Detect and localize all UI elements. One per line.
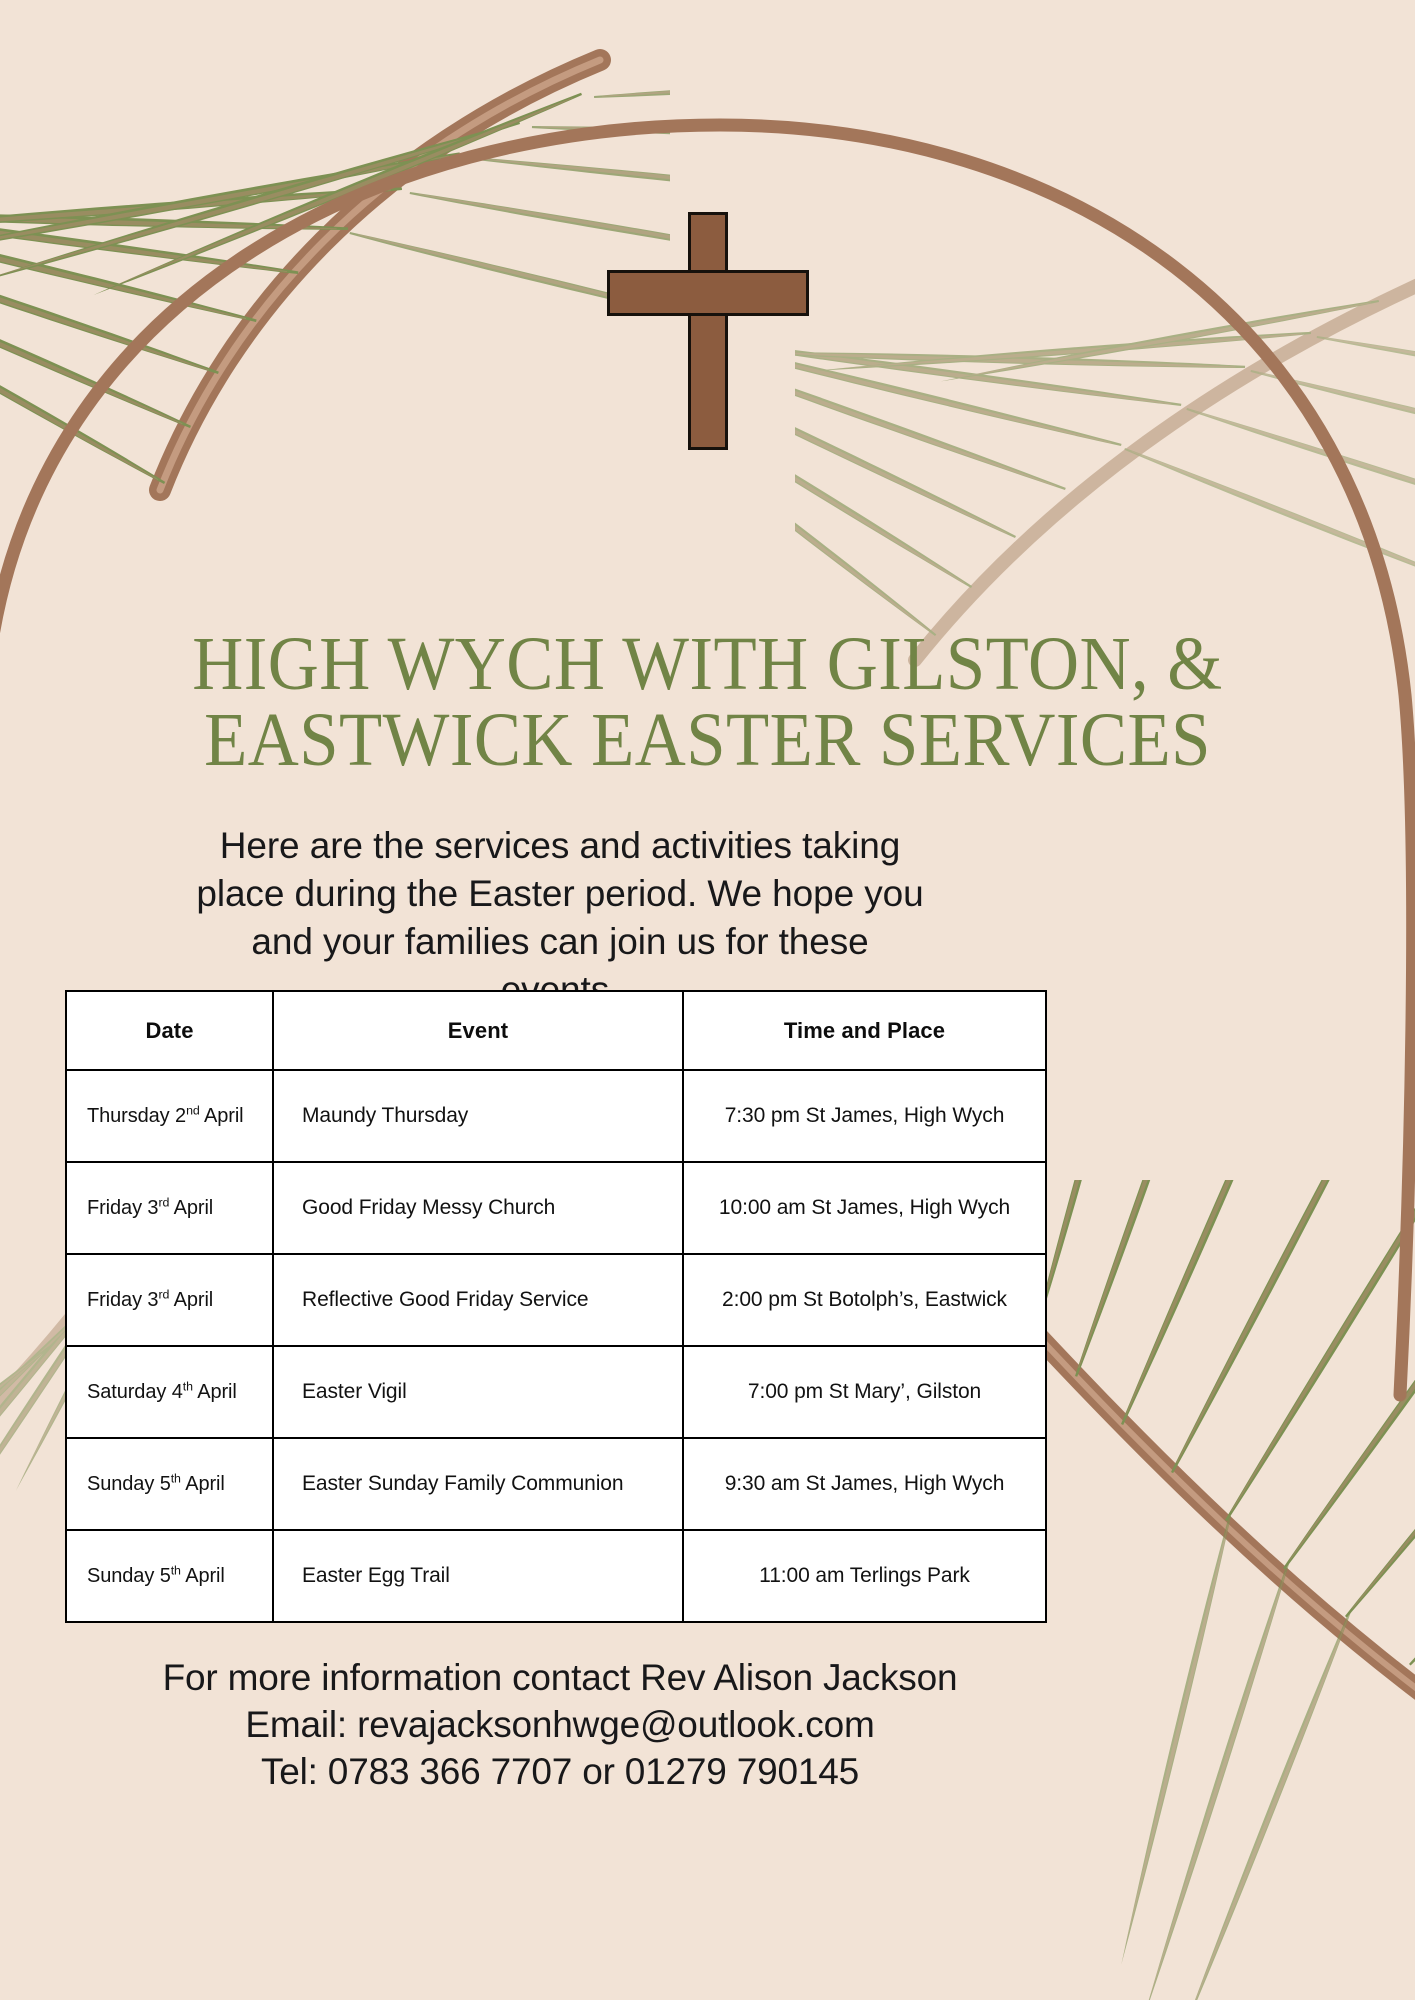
table-row: Thursday 2nd AprilMaundy Thursday7:30 pm… bbox=[66, 1070, 1046, 1162]
cell-date: Sunday 5th April bbox=[66, 1530, 273, 1622]
cell-event: Easter Vigil bbox=[273, 1346, 683, 1438]
cell-event: Easter Egg Trail bbox=[273, 1530, 683, 1622]
date-ordinal-suffix: th bbox=[183, 1379, 193, 1393]
cell-date: Friday 3rd April bbox=[66, 1254, 273, 1346]
table-row: Sunday 5th AprilEaster Sunday Family Com… bbox=[66, 1438, 1046, 1530]
cell-time-and-place: 7:30 pm St James, High Wych bbox=[683, 1070, 1046, 1162]
column-header-time-and-place: Time and Place bbox=[683, 991, 1046, 1070]
cell-event: Reflective Good Friday Service bbox=[273, 1254, 683, 1346]
contact-line-2: Email: revajacksonhwge@outlook.com bbox=[100, 1702, 1020, 1749]
date-ordinal-suffix: rd bbox=[158, 1287, 169, 1301]
date-ordinal-suffix: th bbox=[171, 1471, 181, 1485]
cell-date: Saturday 4th April bbox=[66, 1346, 273, 1438]
column-header-event: Event bbox=[273, 991, 683, 1070]
contact-line-1: For more information contact Rev Alison … bbox=[100, 1655, 1020, 1702]
cell-time-and-place: 7:00 pm St Mary’, Gilston bbox=[683, 1346, 1046, 1438]
table-row: Sunday 5th AprilEaster Egg Trail11:00 am… bbox=[66, 1530, 1046, 1622]
cell-date: Friday 3rd April bbox=[66, 1162, 273, 1254]
cell-time-and-place: 11:00 am Terlings Park bbox=[683, 1530, 1046, 1622]
cell-event: Good Friday Messy Church bbox=[273, 1162, 683, 1254]
easter-services-poster: HIGH WYCH WITH GILSTON, & EASTWICK EASTE… bbox=[0, 0, 1415, 2000]
cell-time-and-place: 2:00 pm St Botolph’s, Eastwick bbox=[683, 1254, 1046, 1346]
intro-paragraph: Here are the services and activities tak… bbox=[190, 822, 930, 1014]
table-row: Friday 3rd AprilReflective Good Friday S… bbox=[66, 1254, 1046, 1346]
page-title-line-2: EASTWICK EASTER SERVICES bbox=[105, 702, 1309, 778]
date-ordinal-suffix: nd bbox=[186, 1103, 200, 1117]
contact-line-3: Tel: 0783 366 7707 or 01279 790145 bbox=[100, 1749, 1020, 1796]
cell-event: Easter Sunday Family Communion bbox=[273, 1438, 683, 1530]
cell-date: Sunday 5th April bbox=[66, 1438, 273, 1530]
cell-time-and-place: 10:00 am St James, High Wych bbox=[683, 1162, 1046, 1254]
services-table: Date Event Time and Place Thursday 2nd A… bbox=[65, 990, 1047, 1623]
page-title: HIGH WYCH WITH GILSTON, & EASTWICK EASTE… bbox=[105, 626, 1309, 778]
contact-footer: For more information contact Rev Alison … bbox=[100, 1655, 1020, 1796]
table-body: Thursday 2nd AprilMaundy Thursday7:30 pm… bbox=[66, 1070, 1046, 1622]
column-header-date: Date bbox=[66, 991, 273, 1070]
date-ordinal-suffix: th bbox=[171, 1563, 181, 1577]
table-header-row: Date Event Time and Place bbox=[66, 991, 1046, 1070]
cell-event: Maundy Thursday bbox=[273, 1070, 683, 1162]
page-title-line-1: HIGH WYCH WITH GILSTON, & bbox=[105, 626, 1309, 702]
table-row: Friday 3rd AprilGood Friday Messy Church… bbox=[66, 1162, 1046, 1254]
date-ordinal-suffix: rd bbox=[158, 1195, 169, 1209]
table-row: Saturday 4th AprilEaster Vigil7:00 pm St… bbox=[66, 1346, 1046, 1438]
cell-date: Thursday 2nd April bbox=[66, 1070, 273, 1162]
cell-time-and-place: 9:30 am St James, High Wych bbox=[683, 1438, 1046, 1530]
services-table-wrapper: Date Event Time and Place Thursday 2nd A… bbox=[65, 990, 1045, 1623]
